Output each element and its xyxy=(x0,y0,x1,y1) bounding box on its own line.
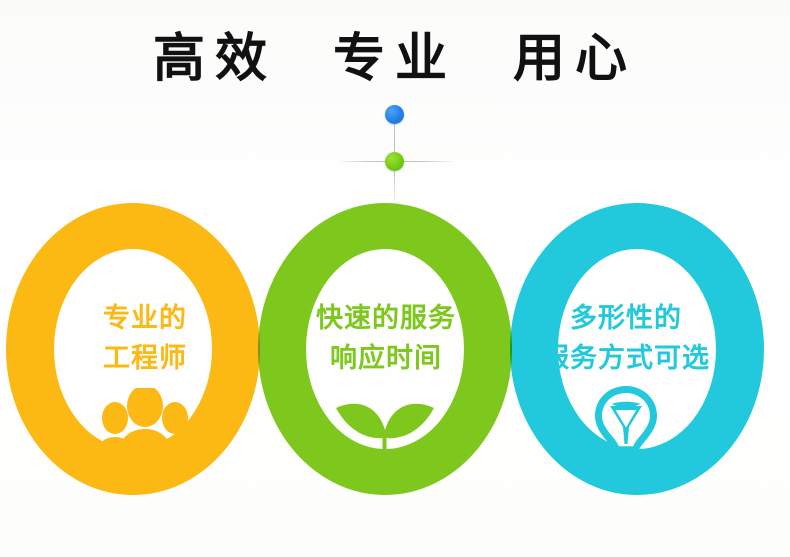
ring-label-green: 快速的服务 响应时间 xyxy=(272,298,500,378)
ring-label-orange-line-2: 工程师 xyxy=(35,338,255,378)
ring-label-green-line-1: 快速的服务 xyxy=(272,298,500,338)
ring-label-cyan: 多形性的 服务方式可选 xyxy=(508,298,744,378)
ring-label-orange-line-1: 专业的 xyxy=(35,298,255,338)
ring-label-cyan-line-2: 服务方式可选 xyxy=(508,338,744,378)
ring-label-green-line-2: 响应时间 xyxy=(272,338,500,378)
ring-label-orange: 专业的 工程师 xyxy=(35,298,255,378)
lightbulb-icon xyxy=(592,386,660,470)
sprout-icon xyxy=(328,382,442,482)
people-icon xyxy=(92,388,198,464)
ring-label-cyan-line-1: 多形性的 xyxy=(508,298,744,338)
infographic-canvas: 高效专业用心 xyxy=(0,0,790,557)
